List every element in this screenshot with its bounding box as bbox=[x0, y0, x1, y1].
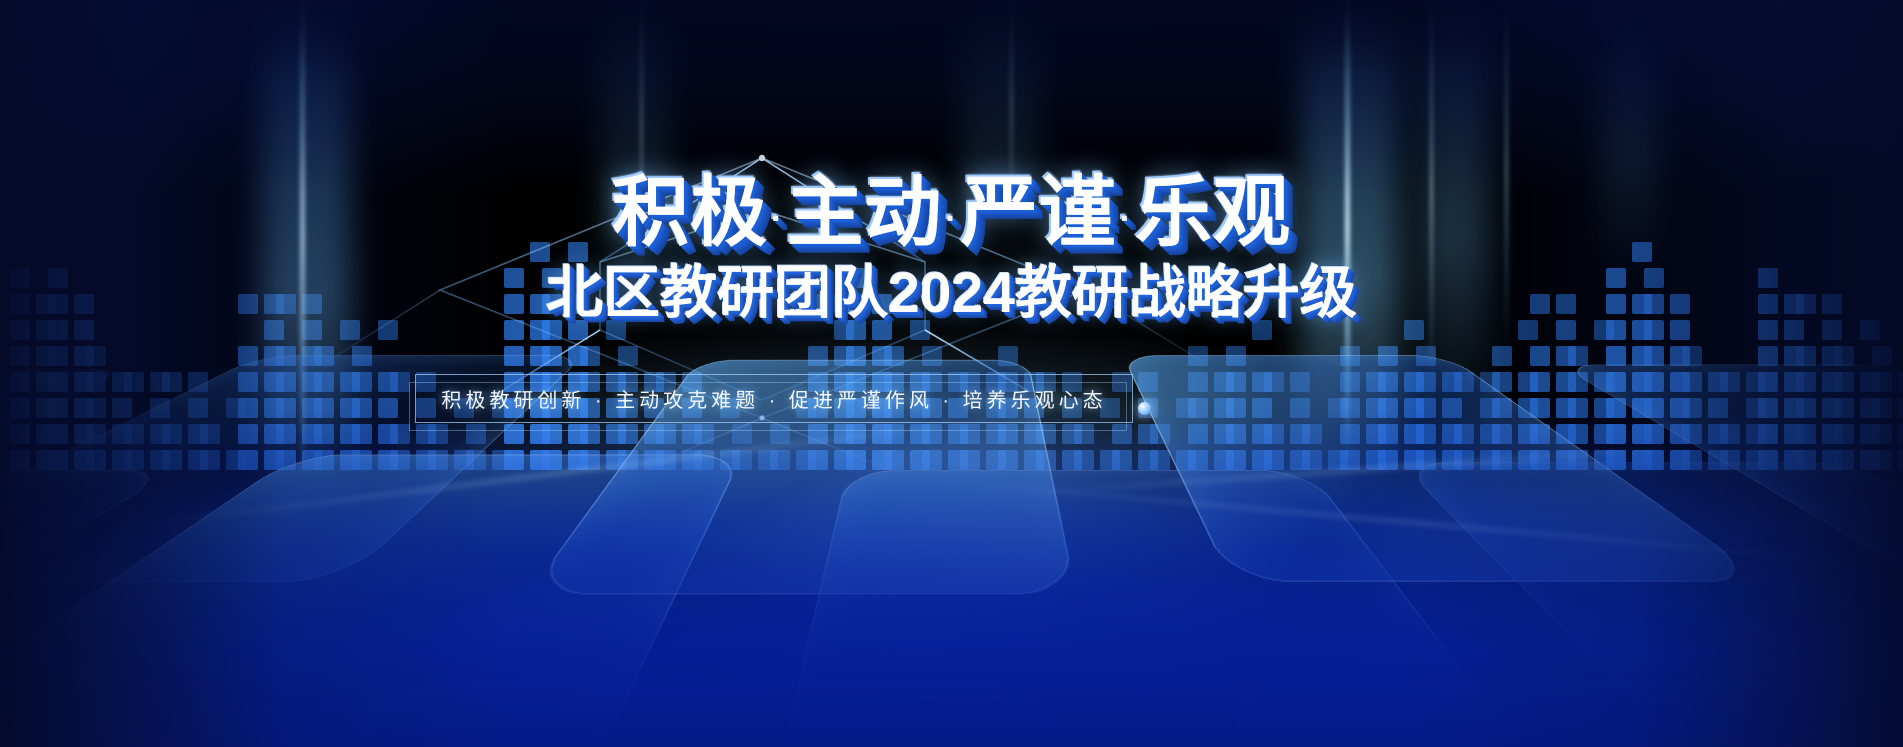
banner-main-title: 积极·主动·严谨·乐观 bbox=[612, 175, 1291, 252]
tagline-frame: 积极教研创新 · 主动攻克难题 · 促进严谨作风 · 培养乐观心态 bbox=[415, 374, 1133, 423]
title-word: 严谨 bbox=[961, 170, 1117, 256]
title-separator-dot: · bbox=[771, 200, 783, 238]
title-separator-dot: · bbox=[945, 200, 957, 238]
title-word: 主动 bbox=[786, 170, 942, 256]
event-banner: 积极·主动·严谨·乐观 北区教研团队2024教研战略升级 积极教研创新 · 主动… bbox=[0, 0, 1903, 747]
title-separator-dot: · bbox=[1120, 200, 1132, 238]
banner-subtitle: 北区教研团队2024教研战略升级 bbox=[546, 265, 1357, 322]
title-word: 积极 bbox=[612, 170, 768, 256]
title-word: 乐观 bbox=[1135, 170, 1291, 256]
banner-tagline: 积极教研创新 · 主动攻克难题 · 促进严谨作风 · 培养乐观心态 bbox=[416, 375, 1132, 422]
glow-orb-icon bbox=[1138, 402, 1151, 415]
